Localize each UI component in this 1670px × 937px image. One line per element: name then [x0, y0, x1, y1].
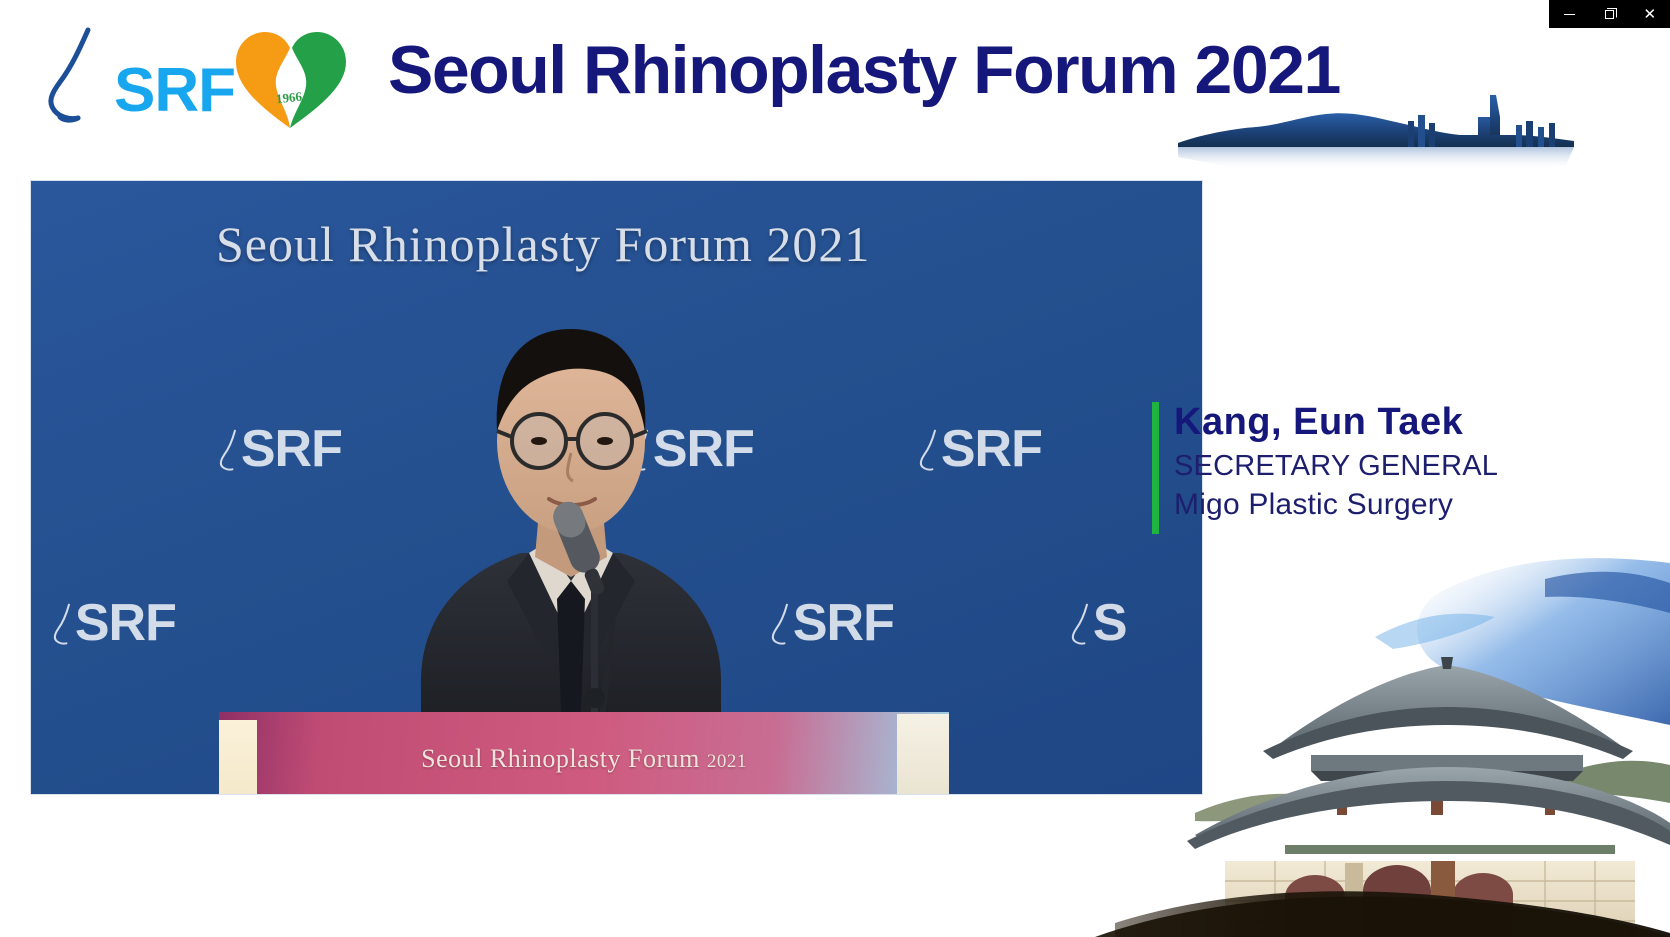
podium: Seoul Rhinoplasty Forum 2021 — [219, 712, 949, 794]
minimize-icon — [1564, 14, 1575, 15]
korean-palace-gate-watercolor — [1075, 545, 1670, 937]
backdrop-watermark-srf-3: SRF — [919, 419, 1042, 479]
window-controls[interactable]: ✕ — [1549, 0, 1670, 28]
heart-swirl-icon — [232, 28, 352, 132]
close-icon: ✕ — [1644, 7, 1657, 22]
restore-icon — [1605, 10, 1614, 19]
restore-button[interactable] — [1589, 0, 1629, 28]
page-title: Seoul Rhinoplasty Forum 2021 — [388, 36, 1340, 104]
speaker-affiliation: Migo Plastic Surgery — [1174, 488, 1453, 522]
srf-wordmark: SRF — [114, 60, 235, 122]
speaker-name: Kang, Eun Taek — [1174, 402, 1463, 443]
nose-outline-icon — [219, 424, 241, 476]
podium-banner-year: 2021 — [707, 751, 747, 772]
backdrop-watermark-srf-5: SRF — [771, 593, 894, 653]
page-header: SRF 1966 Seoul Rhinoplasty Forum 2021 — [0, 0, 1670, 178]
video-stage[interactable]: Seoul Rhinoplasty Forum 2021 SRF SRF SRF… — [31, 181, 1202, 794]
backdrop-watermark-srf-1: SRF — [219, 419, 342, 479]
nose-outline-icon — [36, 26, 110, 126]
podium-banner-title: Seoul Rhinoplasty Forum — [421, 744, 707, 773]
speaker-role: SECRETARY GENERAL — [1174, 450, 1498, 483]
podium-banner-text: Seoul Rhinoplasty Forum 2021 — [219, 744, 949, 774]
nose-outline-icon — [53, 598, 75, 650]
minimize-button[interactable] — [1549, 0, 1589, 28]
seoul-skyline-graphic — [1160, 95, 1580, 178]
nose-outline-icon — [919, 424, 941, 476]
backdrop-watermark-srf-4: SRF — [53, 593, 176, 653]
accent-bar — [1152, 402, 1159, 534]
logo-year-badge: 1966 — [275, 89, 303, 108]
srf-brand-logo: SRF 1966 — [36, 22, 346, 130]
close-button[interactable]: ✕ — [1630, 0, 1670, 28]
backdrop-title: Seoul Rhinoplasty Forum 2021 — [216, 215, 870, 273]
